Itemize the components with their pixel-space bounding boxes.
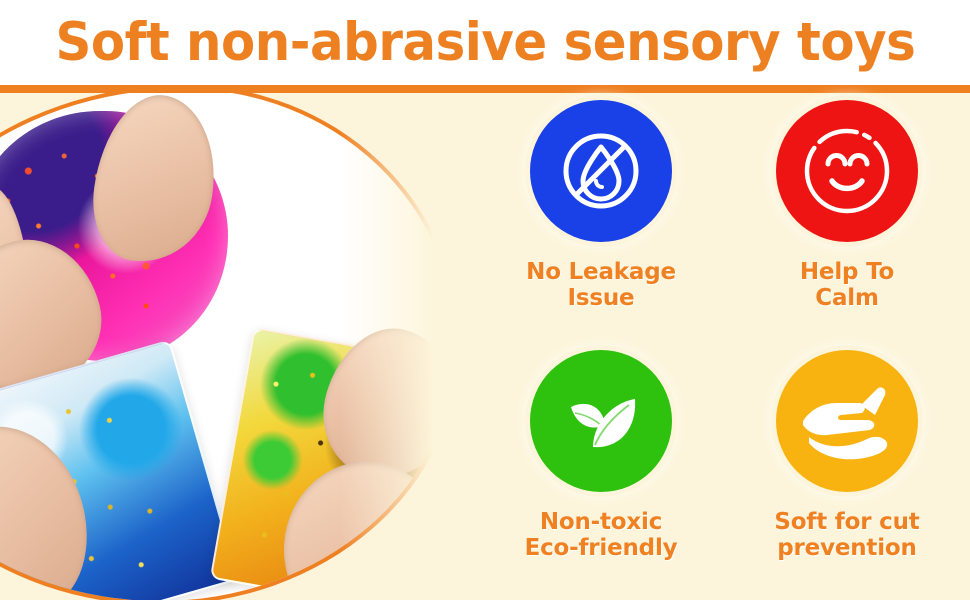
photo-blob-outline [0,93,460,600]
smiley-face-icon [776,100,918,242]
product-photo-collage [0,93,470,600]
benefit-label: No Leakage Issue [526,260,676,312]
benefit-no-leakage: No Leakage Issue [486,100,716,312]
benefit-non-toxic: Non-toxic Eco-friendly [486,350,716,562]
benefits-grid: No Leakage Issue Help To Calm [478,100,970,600]
benefit-label: Non-toxic Eco-friendly [525,510,678,562]
no-water-drop-icon [530,100,672,242]
page-title: Soft non-abrasive sensory toys [55,16,915,69]
header-divider-rule [0,85,970,93]
benefit-cut-prevention: Soft for cut prevention [732,350,962,562]
benefit-label: Help To Calm [800,260,894,312]
header-band: Soft non-abrasive sensory toys [0,0,970,85]
benefit-label: Soft for cut prevention [774,510,919,562]
benefit-help-to-calm: Help To Calm [732,100,962,312]
open-hand-icon [776,350,918,492]
leaves-icon [530,350,672,492]
infographic-banner: Soft non-abrasive sensory toys [0,0,970,600]
